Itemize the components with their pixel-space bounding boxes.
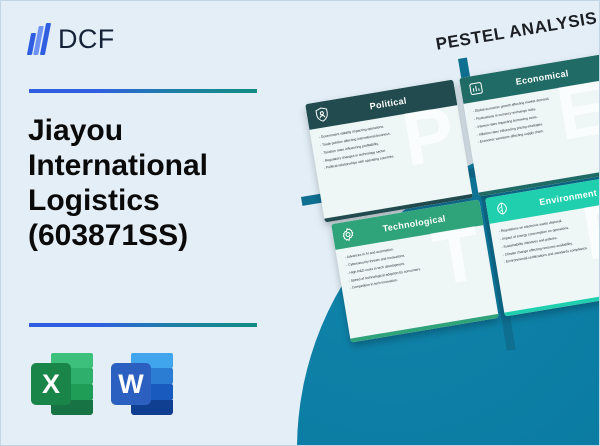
excel-letter: X — [31, 363, 71, 405]
brand-logo[interactable]: DCF — [29, 23, 115, 55]
page-title: Jiayou International Logistics (603871SS… — [28, 113, 290, 253]
pestel-card-environment[interactable]: Environment E - Regulations on electroni… — [485, 173, 600, 316]
card-title-economical: Economical — [501, 68, 569, 89]
word-file-icon[interactable]: W — [111, 353, 173, 415]
pestel-card-political[interactable]: Political P - Government stability impac… — [305, 79, 473, 222]
card-bottom-strip — [504, 288, 600, 317]
bar-chart-logo-icon — [29, 23, 51, 55]
pestel-heading: PESTEL ANALYSIS — [434, 8, 598, 55]
pestel-board: PESTEL ANALYSIS Political P - Government… — [308, 29, 600, 341]
left-info-panel: DCF Jiayou International Logistics (6038… — [1, 1, 301, 446]
person-shield-icon — [313, 105, 331, 123]
card-bottom-strip — [350, 314, 499, 343]
gear-icon — [339, 225, 357, 243]
card-title-environment: Environment — [525, 188, 598, 210]
divider-bottom — [29, 323, 257, 327]
word-letter: W — [111, 363, 151, 405]
leaf-icon — [493, 199, 511, 217]
divider-top — [29, 89, 257, 93]
pestel-card-economical[interactable]: Economical E - Global economic growth af… — [459, 53, 600, 196]
slide-canvas: DCF Jiayou International Logistics (6038… — [0, 0, 600, 446]
download-formats: X W — [31, 353, 173, 415]
brand-name: DCF — [58, 24, 115, 55]
pestel-card-technological[interactable]: Technological T - Advances in AI and aut… — [331, 199, 499, 342]
card-title-political: Political — [355, 95, 407, 113]
excel-file-icon[interactable]: X — [31, 353, 93, 415]
bar-chart-icon — [467, 79, 485, 97]
